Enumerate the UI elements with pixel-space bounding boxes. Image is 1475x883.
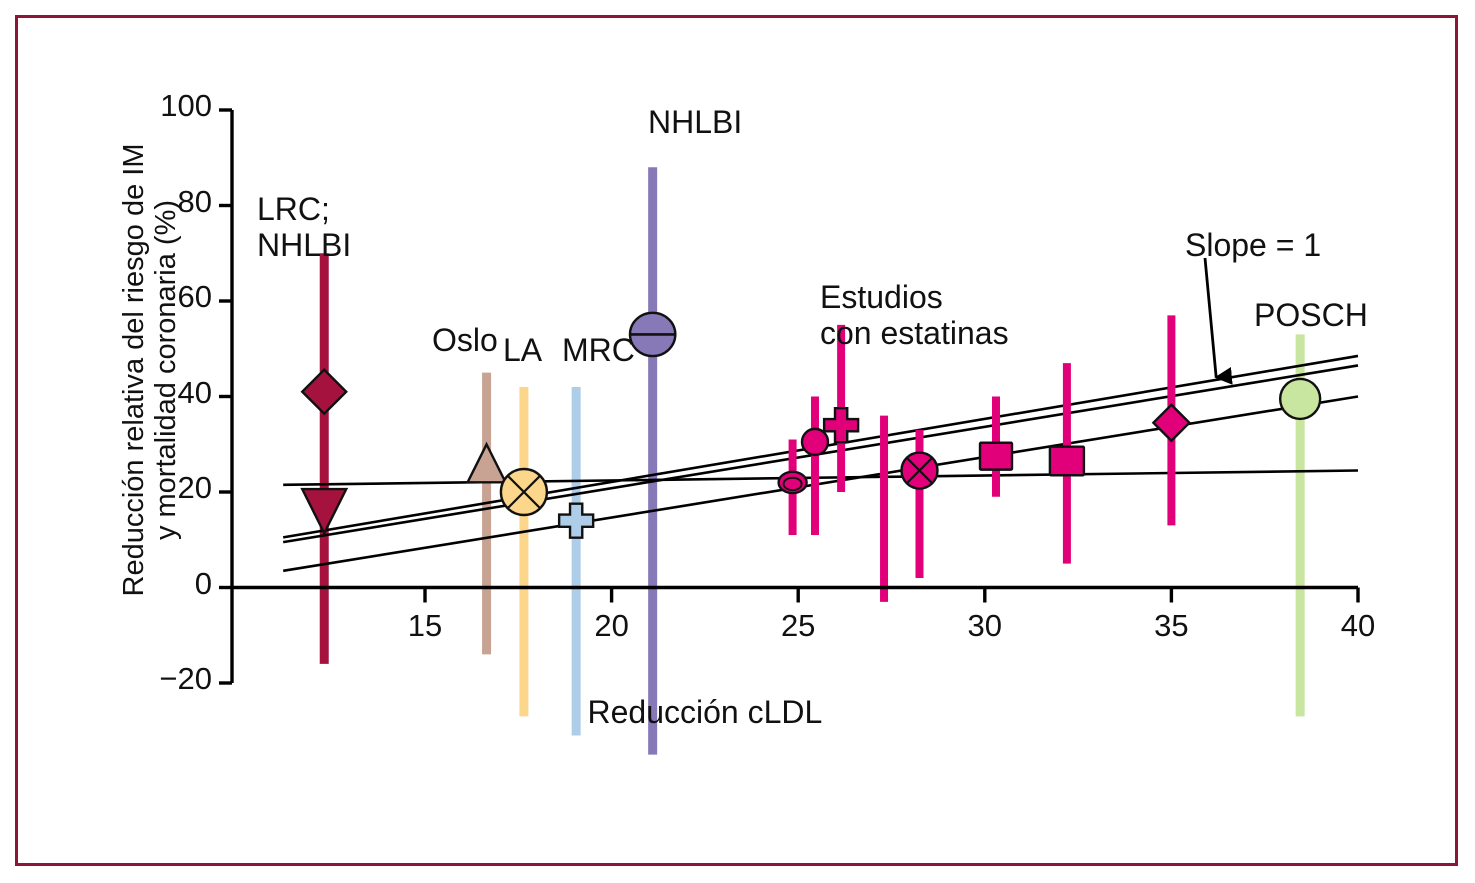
oslo-triangle xyxy=(468,444,506,482)
nhlbi-down-triangle xyxy=(302,489,346,533)
slope-arrow xyxy=(1205,258,1216,377)
y-tick-label-0: 0 xyxy=(195,568,212,601)
mrc-label: MRC xyxy=(562,333,635,369)
posch-circle xyxy=(1280,379,1320,419)
x-tick-label-20: 20 xyxy=(594,610,628,643)
statins-label: Estudios con estatinas xyxy=(820,280,1009,352)
statin-point-3 xyxy=(824,408,858,442)
slope-arrow-line xyxy=(1205,258,1216,377)
x-tick-label-40: 40 xyxy=(1341,610,1375,643)
statin-point-8 xyxy=(1153,405,1189,441)
slope-label: Slope = 1 xyxy=(1185,228,1321,264)
statin-point-2 xyxy=(802,429,828,455)
x-axis-title: Reducción cLDL xyxy=(587,695,822,731)
statin-point-6 xyxy=(980,443,1012,470)
nhlbi-label: NHLBI xyxy=(648,105,742,141)
statin-point-7 xyxy=(1050,447,1084,476)
oslo-label: Oslo xyxy=(432,323,498,359)
mrc-plus xyxy=(559,504,593,538)
lrc-diamond xyxy=(302,370,346,414)
lrc-nhlbi-label: LRC; NHLBI xyxy=(257,192,351,264)
y-axis-title: Reducción relativa del riesgo de IM y mo… xyxy=(118,90,183,650)
figure-page: −20020406080100152025303540Reducción cLD… xyxy=(0,0,1475,883)
regression-lines xyxy=(283,356,1358,571)
x-tick-label-15: 15 xyxy=(408,610,442,643)
x-tick-label-25: 25 xyxy=(781,610,815,643)
posch-label: POSCH xyxy=(1254,298,1368,334)
x-tick-label-30: 30 xyxy=(968,610,1002,643)
la-label: LA xyxy=(503,333,542,369)
x-tick-label-35: 35 xyxy=(1154,610,1188,643)
y-tick-label--20: −20 xyxy=(159,663,212,696)
axes xyxy=(219,110,1358,683)
